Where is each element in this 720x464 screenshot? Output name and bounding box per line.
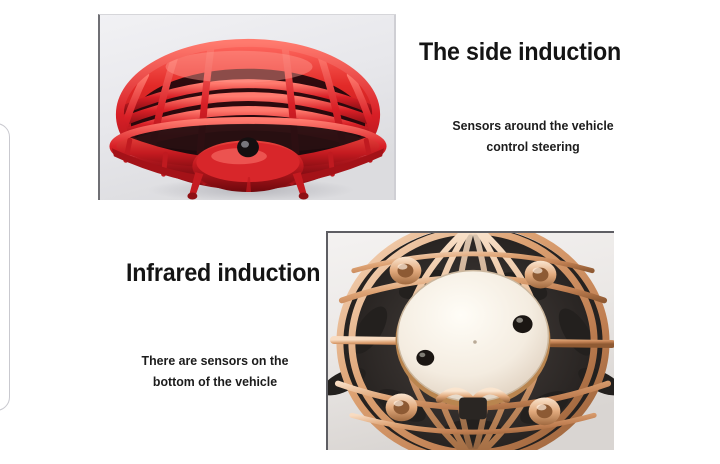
product-photo-infrared-induction xyxy=(326,231,614,450)
caption-side-induction: Sensors around the vehicle control steer… xyxy=(432,115,633,157)
red-drone-illustration xyxy=(100,15,396,200)
partial-card-edge xyxy=(0,123,10,411)
bottom-sensor-disc xyxy=(396,271,551,408)
heading-infrared-induction: Infrared induction xyxy=(126,259,320,288)
caption-infrared-line-2: bottom of the vehicle xyxy=(118,371,312,392)
caption-side-line-1: Sensors around the vehicle xyxy=(432,115,633,136)
caption-infrared-induction: There are sensors on the bottom of the v… xyxy=(118,350,312,392)
gold-drone-illustration xyxy=(328,233,614,450)
product-photo-side-induction xyxy=(98,14,396,200)
heading-side-induction: The side induction xyxy=(419,38,621,67)
caption-side-line-2: control steering xyxy=(432,136,633,157)
caption-infrared-line-1: There are sensors on the xyxy=(118,350,312,371)
